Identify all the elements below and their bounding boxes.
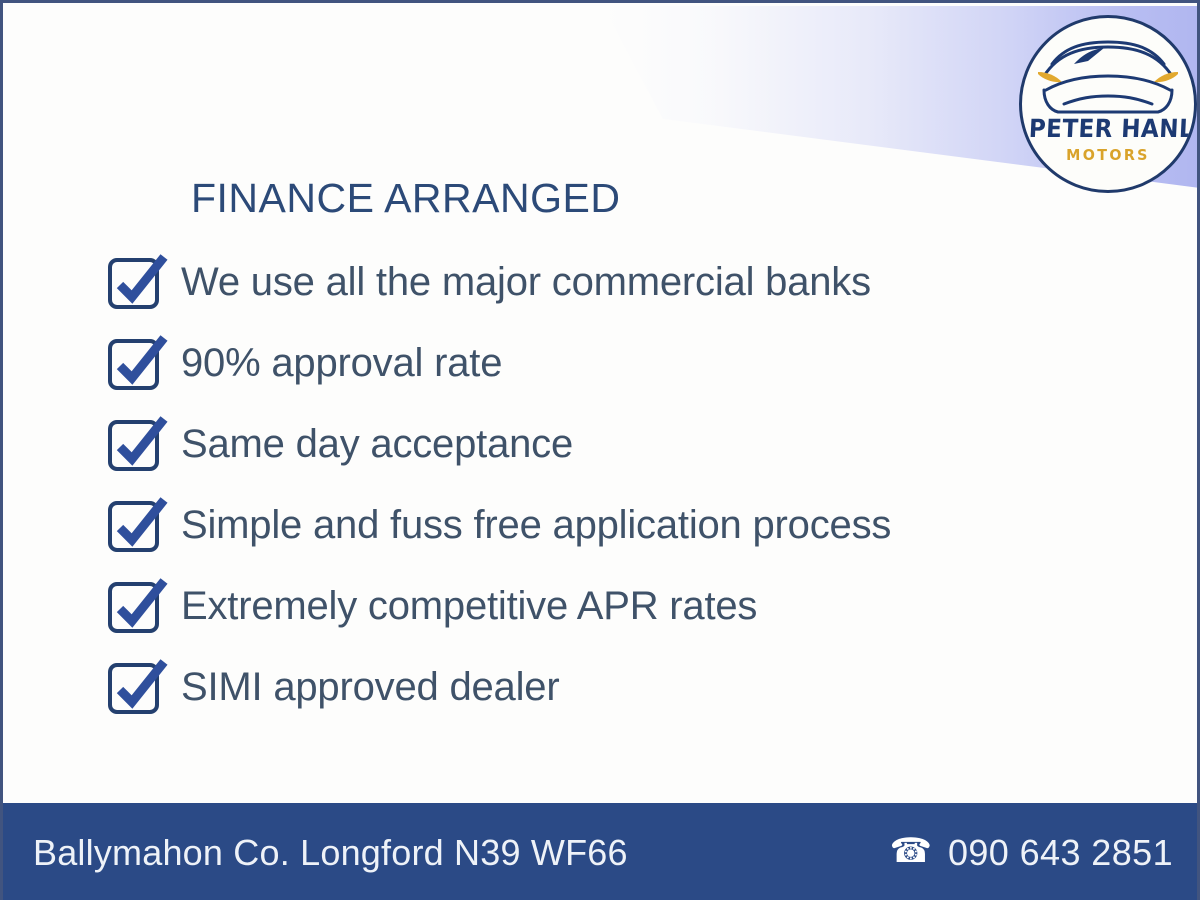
list-item-label: 90% approval rate — [181, 343, 502, 383]
list-item: Same day acceptance — [107, 403, 1147, 484]
logo-subtitle: MOTORS — [1026, 146, 1189, 164]
list-item-label: Extremely competitive APR rates — [181, 586, 757, 626]
checkbox-checked-icon — [107, 497, 169, 553]
footer-address: Ballymahon Co. Longford N39 WF66 — [33, 832, 628, 874]
list-item: We use all the major commercial banks — [107, 241, 1147, 322]
checkbox-checked-icon — [107, 416, 169, 472]
list-item: Extremely competitive APR rates — [107, 565, 1147, 646]
list-item-label: Simple and fuss free application process — [181, 505, 891, 545]
phone-number[interactable]: 090 643 2851 — [948, 832, 1173, 874]
list-item-label: We use all the major commercial banks — [181, 262, 871, 302]
footer-phone[interactable]: ☎ 090 643 2851 — [890, 832, 1173, 874]
page-title: FINANCE ARRANGED — [191, 175, 620, 222]
list-item-label: Same day acceptance — [181, 424, 573, 464]
telephone-icon: ☎ — [890, 834, 932, 868]
logo-name: PETER HANLEY — [1028, 114, 1188, 143]
checkbox-checked-icon — [107, 659, 169, 715]
checkbox-checked-icon — [107, 335, 169, 391]
footer-bar: Ballymahon Co. Longford N39 WF66 ☎ 090 6… — [3, 803, 1200, 900]
dealer-logo: PETER HANLEY MOTORS — [1019, 15, 1197, 193]
list-item: SIMI approved dealer — [107, 646, 1147, 727]
finance-arranged-card: PETER HANLEY MOTORS FINANCE ARRANGED We … — [0, 0, 1200, 900]
checkbox-checked-icon — [107, 254, 169, 310]
checkbox-checked-icon — [107, 578, 169, 634]
list-item: 90% approval rate — [107, 322, 1147, 403]
car-silhouette-icon — [1030, 34, 1186, 118]
list-item: Simple and fuss free application process — [107, 484, 1147, 565]
feature-list: We use all the major commercial banks 90… — [107, 241, 1147, 727]
list-item-label: SIMI approved dealer — [181, 667, 559, 707]
